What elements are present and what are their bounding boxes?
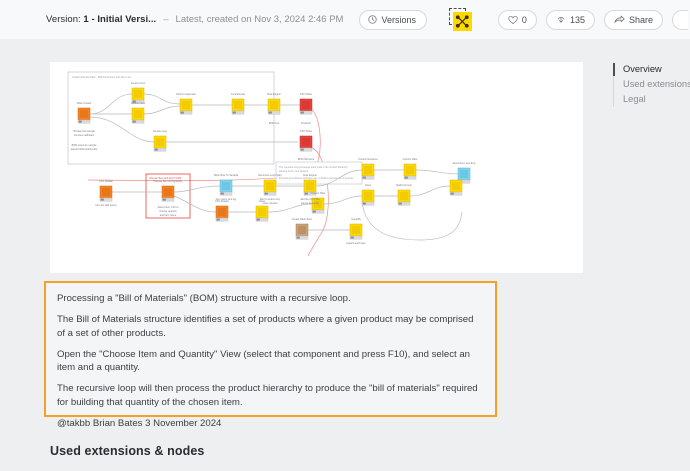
svg-text:CSV Reader: CSV Reader: [99, 180, 113, 183]
toc-item-used-extensions[interactable]: Used extensions &: [613, 77, 690, 92]
svg-text:CSV Writer: CSV Writer: [300, 130, 313, 133]
svg-text:Table Creator: Table Creator: [76, 102, 91, 105]
description-paragraph: The Bill of Materials structure identifi…: [57, 313, 483, 340]
svg-text:Column Filter: Column Filter: [311, 192, 326, 195]
svg-text:Products: Products: [301, 122, 312, 125]
more-actions-button[interactable]: [672, 10, 688, 30]
svg-text:BOM Structure: BOM Structure: [298, 158, 315, 161]
svg-text:rows relevant: rows relevant: [263, 202, 278, 205]
svg-text:GroupBy: GroupBy: [351, 218, 362, 221]
svg-text:The recursive loop processes e: The recursive loop processes each node i…: [279, 166, 349, 169]
workflow-preview-canvas[interactable]: Create Sample Data - BOM Structure and I…: [50, 62, 583, 273]
description-paragraph: Processing a "Bill of Materials" (BOM) s…: [57, 292, 483, 306]
svg-text:and item name: and item name: [160, 214, 177, 217]
svg-text:Select item, F10 to: Select item, F10 to: [158, 206, 179, 209]
svg-text:CSV Writer: CSV Writer: [300, 93, 313, 96]
svg-text:*Product list sample: *Product list sample: [73, 130, 96, 133]
description-paragraph: Open the "Choose Item and Quantity" View…: [57, 348, 483, 375]
svg-text:add the qty of the: add the qty of the: [300, 198, 320, 201]
description-paragraph: The recursive loop will then process the…: [57, 382, 483, 409]
svg-text:filter to select only: filter to select only: [260, 198, 281, 201]
svg-text:Processing continues until the: Processing continues until there are no …: [279, 177, 354, 180]
svg-text:parent assembly: parent assembly: [301, 202, 320, 205]
svg-text:passing to the next iteration: passing to the next iteration: [279, 170, 309, 173]
svg-text:Recursive Loop Start: Recursive Loop Start: [258, 174, 282, 177]
svg-text:Counter Gen: Counter Gen: [131, 82, 146, 85]
svg-text:Create Table Spec: Create Table Spec: [292, 218, 313, 221]
top-header-bar: Version: 1 - Initial Versi... – Latest, …: [0, 0, 690, 39]
svg-text:Column Appender: Column Appender: [176, 93, 196, 96]
toc-item-overview[interactable]: Overview: [613, 62, 690, 77]
heart-icon: [508, 15, 518, 25]
svg-text:Create Sample Data - BOM Struc: Create Sample Data - BOM Structure and I…: [72, 75, 131, 79]
share-button[interactable]: Share: [604, 10, 663, 30]
workflow-diagram: Create Sample Data - BOM Structure and I…: [50, 62, 583, 273]
svg-text:Rule Engine: Rule Engine: [267, 93, 281, 96]
versions-button-label: Versions: [381, 15, 416, 25]
version-title-value: 1 - Initial Versi...: [83, 14, 156, 25]
like-count: 0: [522, 15, 527, 25]
workflow-thumbnail-icon[interactable]: [449, 8, 472, 31]
svg-text:Column Filter: Column Filter: [403, 158, 418, 161]
svg-text:Concatenate: Concatenate: [231, 93, 246, 96]
version-title: Version: 1 - Initial Versi...: [46, 14, 156, 25]
svg-text:item name and qty: item name and qty: [216, 198, 237, 201]
version-separator: –: [163, 14, 168, 25]
share-icon: [614, 15, 625, 25]
svg-text:Counter Gen: Counter Gen: [153, 130, 168, 133]
workflow-nodes-glyph-icon: [454, 13, 471, 30]
version-title-prefix: Version:: [46, 14, 83, 25]
description-author-line: @takbb Brian Bates 3 November 2024: [57, 417, 483, 431]
download-count: 135: [570, 15, 585, 25]
versions-button[interactable]: Versions: [359, 10, 427, 30]
svg-text:Recursive Loop End: Recursive Loop End: [453, 162, 476, 165]
svg-text:BOM List: BOM List: [269, 122, 280, 125]
svg-text:Counter Gen: Counter Gen: [131, 102, 146, 105]
like-button[interactable]: 0: [498, 10, 537, 30]
workflow-description-box: Processing a "Bill of Materials" (BOM) s…: [44, 281, 497, 417]
clock-icon: [368, 15, 377, 24]
main-content-area: Create Sample Data - BOM Structure and I…: [0, 39, 690, 471]
svg-text:parent/child relationship: parent/child relationship: [71, 148, 98, 151]
svg-text:Math Formula: Math Formula: [396, 184, 412, 187]
download-icon: [556, 15, 566, 25]
svg-text:Column Renamer: Column Renamer: [358, 158, 378, 161]
toc-item-legal[interactable]: Legal: [613, 92, 690, 107]
svg-text:Rule Engine: Rule Engine: [303, 174, 317, 177]
svg-text:BOM structure sample: BOM structure sample: [72, 144, 97, 147]
svg-text:Item list with prices: Item list with prices: [95, 204, 117, 207]
download-button[interactable]: 135: [546, 10, 595, 30]
svg-text:structure definition: structure definition: [74, 134, 95, 137]
header-actions-group: 0 135 Share: [449, 0, 690, 39]
version-info-group: Version: 1 - Initial Versi... – Latest, …: [46, 10, 427, 30]
used-extensions-heading: Used extensions & nodes: [50, 444, 204, 458]
page-table-of-contents: Overview Used extensions & Legal: [613, 62, 690, 107]
share-button-label: Share: [629, 15, 653, 25]
svg-text:expand each item: expand each item: [346, 242, 366, 245]
svg-text:Choose Item and Quantity: Choose Item and Quantity: [153, 180, 183, 183]
svg-text:Table Row To Variable: Table Row To Variable: [214, 174, 239, 177]
version-metadata: Latest, created on Nov 3, 2024 2:46 PM: [176, 14, 344, 25]
svg-text:Joiner: Joiner: [365, 184, 372, 187]
svg-text:choose quantity: choose quantity: [159, 210, 177, 213]
